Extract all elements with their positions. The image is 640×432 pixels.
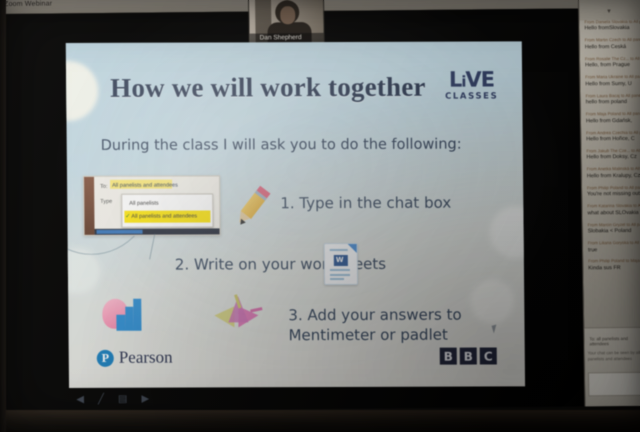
pearson-logo: P Pearson (97, 348, 173, 368)
chat-panel-header: ▾ (579, 0, 640, 20)
monitor-bezel-bottom (0, 410, 640, 432)
bar-chart-graphic (102, 293, 144, 333)
chat-message: From Maria Ukraine to All panelistsHello… (585, 75, 640, 87)
chart-bar (125, 307, 133, 331)
chat-message-list[interactable]: From Daniela Slovakia to All panelistsHe… (579, 20, 640, 325)
monitor-photo: Zoom Webinar Dan Shepherd How we will wo… (0, 0, 640, 432)
bullet-3: 3. Add your answers to Mentimeter or pad… (288, 305, 462, 346)
chat-message-sender: From Katarina Slovakia to All panelists (587, 204, 640, 210)
chat-input[interactable] (588, 372, 640, 397)
chat-message-text: true (588, 246, 640, 253)
live-classes-logo-top: LiVE (445, 69, 498, 90)
chat-message: From Maja Poland to All panelistsHello f… (586, 112, 640, 124)
chat-message-text: Hello from Česká (585, 44, 640, 51)
chat-message-sender: From Maja Poland to All panelists (586, 112, 640, 118)
chat-message-text: Hello from Doksy, Cz (587, 154, 640, 161)
screenshot-dropdown-menu: All panelists ✓ All panelists and attend… (121, 193, 213, 227)
chat-message-sender: From Rosalie The Cz... to All panelists (585, 57, 640, 63)
presenter-face (280, 6, 295, 24)
chat-message: From Laura Bacaj to All panelistshello f… (586, 94, 640, 106)
chat-message: From Jakub The Cze... to All panelistsHe… (586, 149, 640, 161)
chat-message-text: Slobakia < Poland (588, 228, 640, 235)
chat-message: From Philip Poland to Maja PolandKinda s… (588, 259, 640, 271)
logo-letters-ve: VE (465, 67, 494, 91)
chat-message-sender: From Martin Czech to All panelists (585, 38, 640, 44)
live-classes-logo-bottom: CLASSES (445, 91, 498, 101)
document-line (330, 269, 350, 271)
chat-message-text: You're not missing out (587, 191, 640, 198)
bbc-letter-3: C (480, 347, 497, 364)
chat-message: From Martin Czech to All panelistsHello … (585, 38, 640, 50)
chat-message-sender: From Anetka Malinská to All panelists (587, 167, 640, 173)
bullet-3-line2: Mentimeter or padlet (288, 326, 447, 345)
bullet-1: 1. Type in the chat box (280, 194, 451, 213)
check-icon: ✓ (125, 213, 130, 220)
screenshot-option-all-panelists: All panelists (129, 201, 158, 207)
live-classes-logo: LiVE CLASSES (445, 69, 499, 101)
chat-message-text: Hello fromSlovakia (584, 25, 640, 32)
pen-icon[interactable]: ╱ (98, 395, 104, 405)
screenshot-to-label: To: (100, 184, 107, 190)
pearson-mark-letter: P (102, 350, 109, 364)
bbc-logo: B B C (440, 347, 497, 364)
chat-message: From Andrea Czechia to All panelistsHell… (586, 130, 640, 142)
screenshot-sidebar (84, 177, 95, 235)
chat-message-text: Hello from Gdańsk, (586, 117, 640, 124)
chat-message-text: Hello from Kralupy, Cz (587, 173, 640, 180)
chat-message: From Rosalie The Cz... to All panelistsH… (585, 57, 640, 69)
word-badge-letter: W (336, 257, 344, 264)
chat-message-sender: From Daniela Slovakia to All panelists (584, 20, 640, 26)
window-title: Zoom Webinar (4, 0, 52, 7)
logo-letter-l: L (449, 68, 462, 92)
chat-message-text: hello from poland (586, 99, 640, 106)
chevron-down-icon[interactable]: ▾ (607, 7, 611, 15)
previous-slide-icon[interactable]: ◀ (76, 395, 84, 405)
chart-bar (116, 315, 125, 331)
pearson-mark: P (97, 349, 114, 366)
origami-crane-icon (214, 294, 262, 334)
screenshot-blue-bar (97, 230, 143, 234)
presenter-video-thumbnail[interactable]: Dan Shepherd (248, 0, 325, 46)
document-line (330, 274, 350, 276)
screenshot-type-label: Type (100, 199, 112, 205)
chat-message-text: what about SLOvakia (587, 209, 640, 216)
decorative-blob (470, 279, 514, 323)
document-line (330, 278, 344, 280)
chat-message-sender: From Maria Ukraine to All panelists (585, 75, 640, 81)
presenter-name: Dan Shepherd (260, 34, 302, 41)
screenshot-option-all-panelists-and-attendees: All panelists and attendees (131, 214, 197, 220)
chat-message: From Liliana Goryska to All paneliststru… (588, 241, 640, 253)
chat-privacy-hint: Your chat can be seen by all panelists a… (588, 350, 640, 362)
chat-message: From Daniela Slovakia to All panelistsHe… (584, 20, 640, 32)
chat-dropdown-screenshot: To: All panelists and attendees Type All… (83, 175, 221, 235)
document-line (330, 249, 348, 251)
screen-area: Zoom Webinar Dan Shepherd How we will wo… (0, 0, 640, 412)
chat-message-sender: From Marcin Gryzel to All panelists (588, 222, 640, 228)
monitor-bezel-left (0, 0, 6, 432)
chat-panel-footer: To: all panelists and attendees Your cha… (584, 327, 640, 407)
annotation-toolbar[interactable]: ◀ ╱ ▤ ▶ (76, 395, 149, 406)
chat-message: From Marcin Gryzel to All panelistsSloba… (588, 222, 640, 234)
chat-message: From Philip Poland to All panelistsYou'r… (587, 186, 640, 198)
pearson-wordmark: Pearson (119, 348, 173, 368)
chat-message-text: Kinda sus FR (588, 265, 640, 272)
screenshot-to-value: All panelists and attendees (112, 183, 178, 189)
shared-slide[interactable]: How we will work together LiVE CLASSES D… (66, 41, 525, 388)
slide-subtitle: During the class I will ask you to do th… (101, 137, 462, 154)
chat-message-text: Hello, from Prague (585, 62, 640, 69)
bbc-letter-1: B (440, 348, 457, 365)
next-slide-icon[interactable]: ▶ (141, 395, 149, 405)
chat-message: From Anetka Malinská to All panelistsHel… (587, 167, 640, 179)
pencil-icon (220, 178, 281, 238)
chat-message-text: Hello from Hořice, C (586, 136, 640, 143)
chat-message-sender: From Laura Bacaj to All panelists (586, 94, 640, 100)
chat-message-sender: From Philip Poland to Maja Poland (588, 259, 640, 265)
chat-recipient-selector[interactable]: To: all panelists and attendees (589, 336, 640, 347)
chat-message-sender: From Liliana Goryska to All panelists (588, 241, 640, 247)
bbc-letter-2: B (460, 348, 477, 365)
note-icon[interactable]: ▤ (118, 395, 128, 405)
word-badge: W (334, 255, 348, 266)
chat-message-text: Hello from Sumy, U (585, 81, 640, 88)
chart-bar (133, 299, 141, 331)
document-fold (348, 244, 357, 253)
bullet-3-line1: 3. Add your answers to (288, 306, 461, 325)
mouse-cursor (492, 323, 503, 333)
decorative-blob (489, 206, 525, 258)
slide-title: How we will work together (110, 72, 426, 104)
leader-line (149, 234, 155, 260)
document-icon: W (324, 243, 358, 285)
chat-message: From Katarina Slovakia to All panelistsw… (587, 204, 640, 216)
chat-panel[interactable]: ▾ From Daniela Slovakia to All panelists… (578, 0, 640, 406)
